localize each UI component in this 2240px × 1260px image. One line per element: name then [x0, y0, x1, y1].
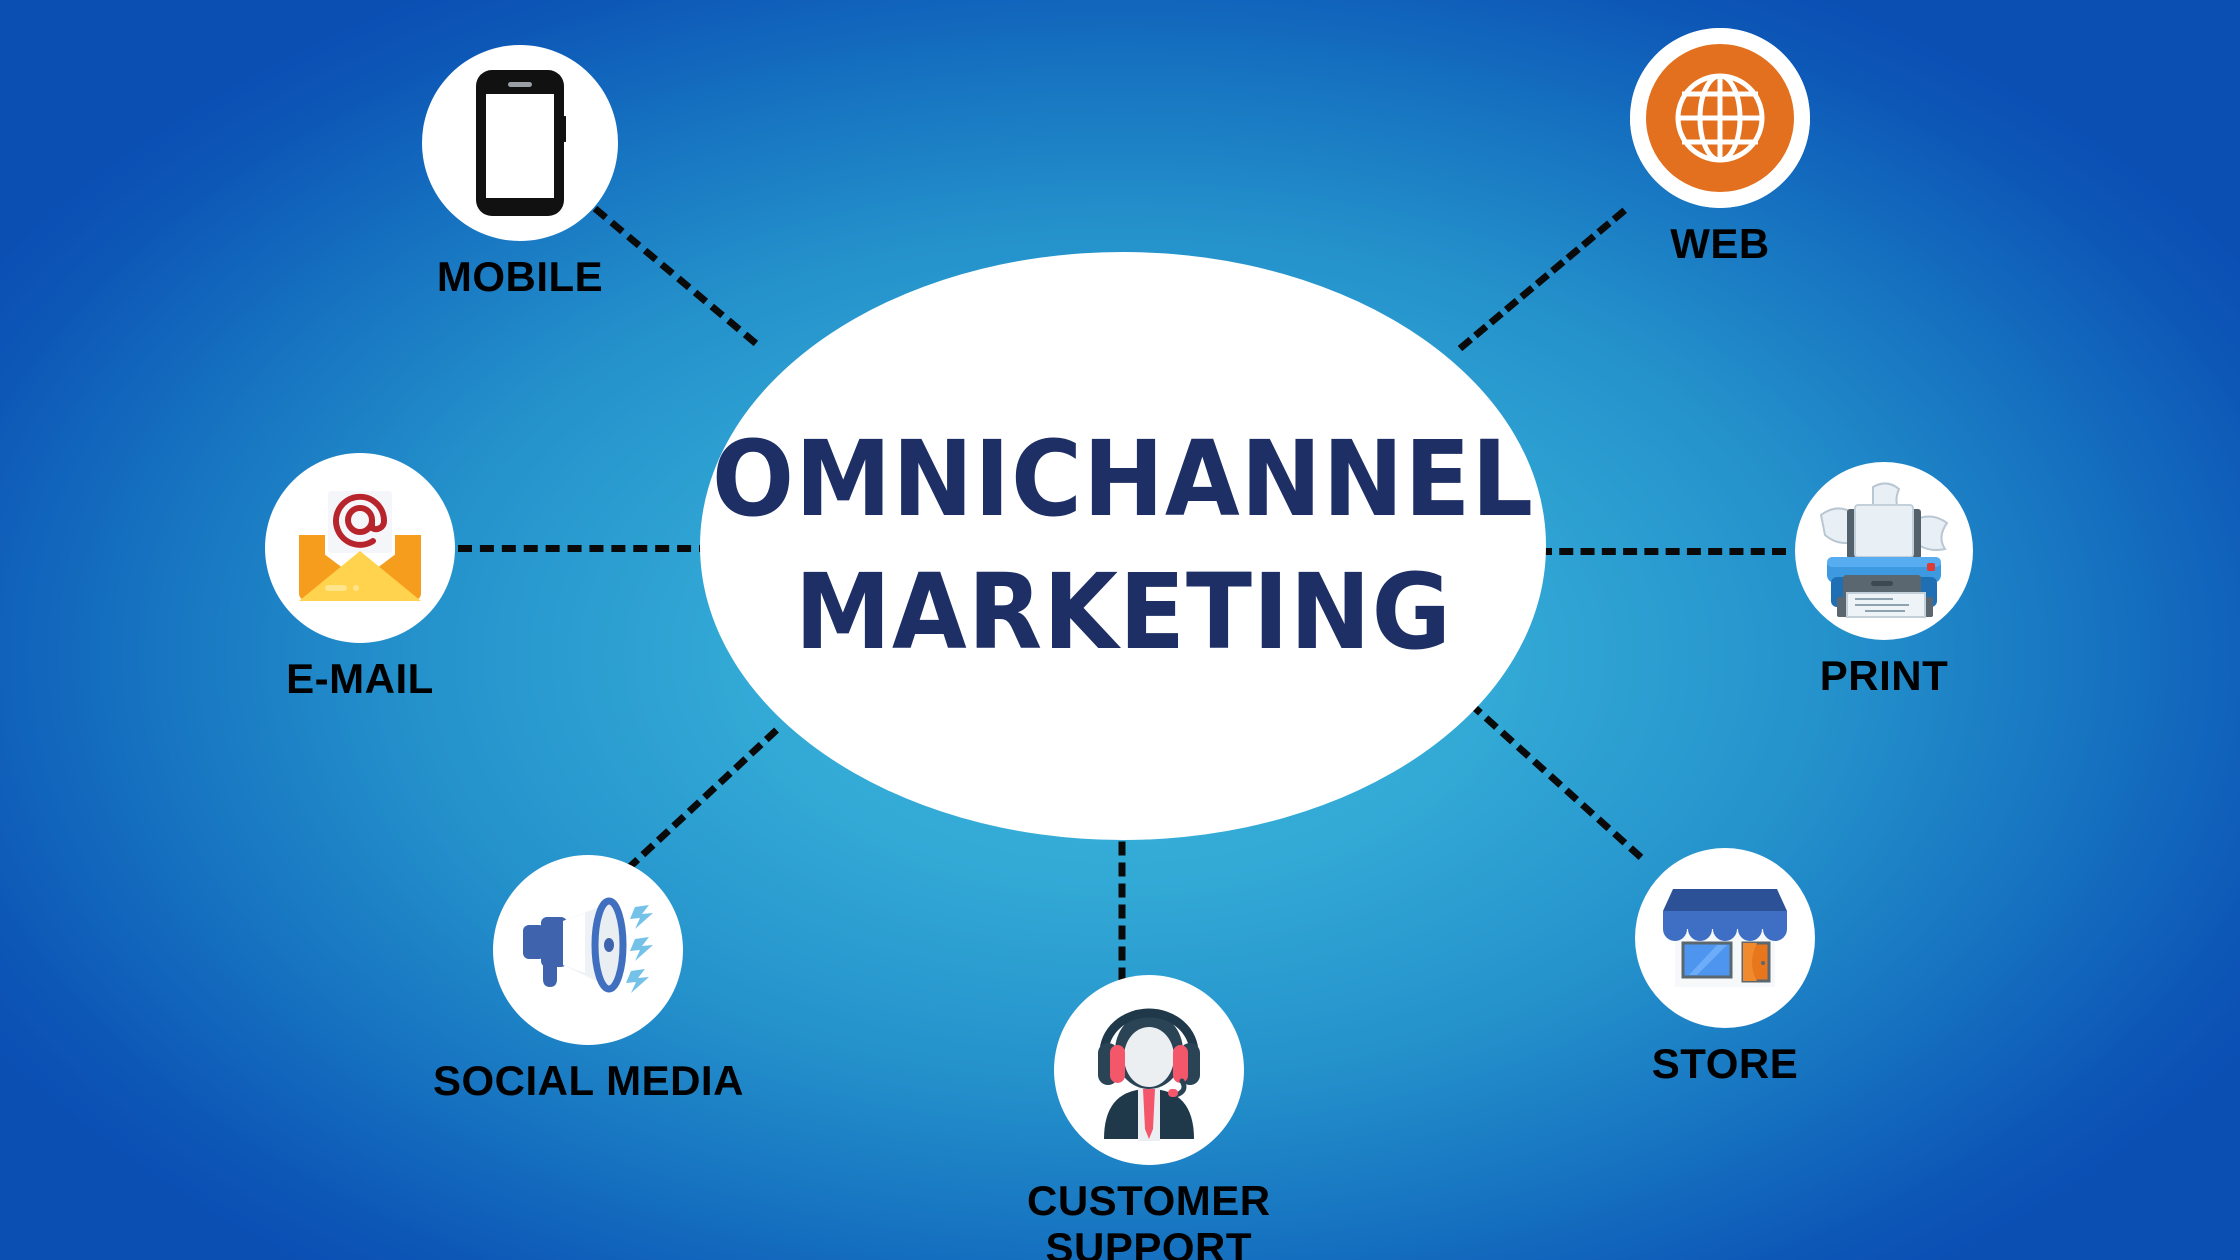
storefront-icon	[1659, 885, 1791, 991]
node-email[interactable]: E-MAIL	[265, 453, 455, 702]
hub-title-line-2: MARKETING	[794, 546, 1451, 679]
node-mobile-bubble	[422, 45, 618, 241]
node-email-bubble	[265, 453, 455, 643]
connector-email	[458, 545, 713, 552]
node-customer-support[interactable]: CUSTOMER SUPPORT	[1027, 975, 1271, 1260]
node-customer-support-label: CUSTOMER SUPPORT	[1027, 1177, 1271, 1260]
node-print[interactable]: PRINT	[1795, 462, 1973, 699]
node-store[interactable]: STORE	[1635, 848, 1815, 1087]
node-print-bubble	[1795, 462, 1973, 640]
printer-icon	[1809, 481, 1959, 621]
connector-customer-support	[1119, 842, 1126, 982]
node-print-label: PRINT	[1820, 652, 1949, 699]
node-web[interactable]: WEB	[1630, 28, 1810, 267]
envelope-at-icon	[295, 489, 425, 607]
node-social-media-label: SOCIAL MEDIA	[433, 1057, 744, 1104]
node-store-bubble	[1635, 848, 1815, 1028]
megaphone-icon	[513, 891, 663, 1009]
globe-icon	[1630, 28, 1810, 208]
node-mobile-label: MOBILE	[437, 253, 603, 300]
node-social-media-bubble	[493, 855, 683, 1045]
omnichannel-diagram: OMNICHANNEL MARKETING MOBILE	[0, 0, 2240, 1260]
node-web-label: WEB	[1670, 220, 1770, 267]
connector-store	[1468, 701, 1644, 860]
connector-web	[1458, 208, 1627, 352]
node-web-bubble	[1630, 28, 1810, 208]
headset-agent-icon	[1074, 997, 1224, 1165]
smartphone-icon	[474, 68, 566, 218]
node-social-media[interactable]: SOCIAL MEDIA	[433, 855, 744, 1104]
node-customer-support-bubble	[1054, 975, 1244, 1165]
hub-title-line-1: OMNICHANNEL	[712, 413, 1534, 546]
connector-print	[1538, 548, 1786, 555]
central-hub: OMNICHANNEL MARKETING	[700, 252, 1546, 840]
node-email-label: E-MAIL	[286, 655, 434, 702]
node-store-label: STORE	[1652, 1040, 1798, 1087]
node-mobile[interactable]: MOBILE	[422, 45, 618, 300]
